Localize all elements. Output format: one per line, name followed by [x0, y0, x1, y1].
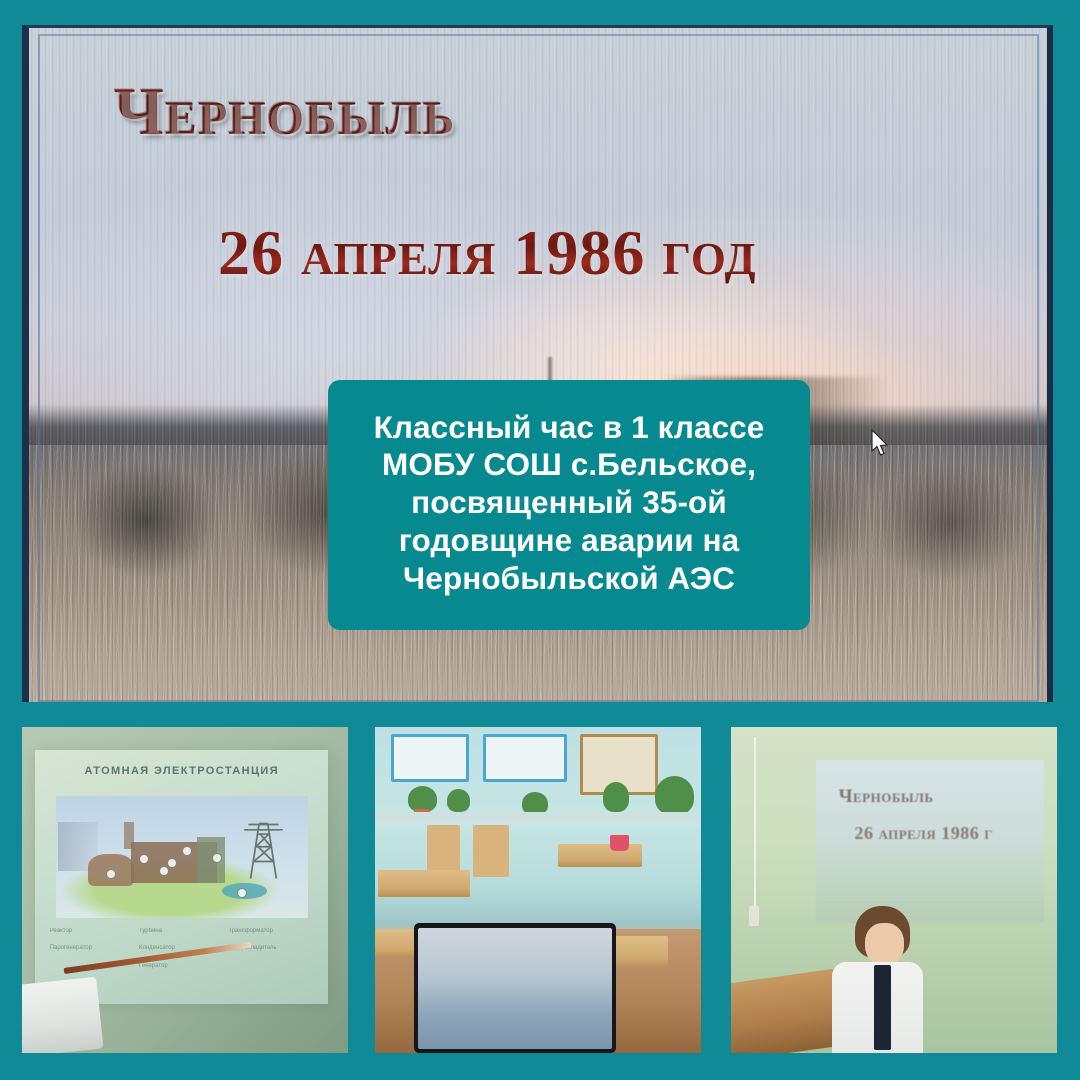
callout-marker	[139, 854, 149, 864]
monitor-display	[414, 923, 616, 1053]
chair	[427, 825, 460, 877]
slide-title: Чернобыль	[114, 77, 455, 145]
flower-pot	[610, 835, 630, 851]
desk	[378, 870, 469, 896]
potted-plant	[447, 789, 470, 812]
npp-illustration	[56, 796, 308, 918]
legend-item: Турбина	[139, 928, 224, 944]
wall-poster	[391, 734, 469, 782]
pupil-face	[865, 923, 904, 965]
callout-marker	[167, 858, 177, 868]
projected-slide-title: Чернобыль	[839, 786, 934, 808]
projected-slide-date: 26 апреля 1986 г	[855, 823, 993, 844]
hanging-cord	[754, 737, 756, 916]
caption-overlay: Классный час в 1 классе МОБУ СОШ с.Бельс…	[328, 380, 810, 630]
thumbnail-girl-presenting[interactable]: Чернобыль 26 апреля 1986 г	[731, 727, 1057, 1053]
legend-item: Реактор	[50, 928, 135, 944]
callout-marker	[212, 853, 222, 863]
legend-item: Генератор	[139, 963, 224, 979]
npp-slide-title: АТОМНАЯ ЭЛЕКТРОСТАНЦИЯ	[35, 765, 328, 777]
caption-text: Классный час в 1 классе МОБУ СОШ с.Бельс…	[374, 409, 765, 598]
legend-item	[228, 963, 313, 979]
callout-marker	[182, 846, 192, 856]
teacher-arm	[22, 977, 104, 1053]
monitor-screen-content	[418, 928, 612, 1049]
desk	[558, 844, 643, 867]
potted-plant	[655, 776, 694, 815]
slide-date: 26 апреля 1986 год	[218, 221, 757, 285]
projected-slide: Чернобыль 26 апреля 1986 г	[816, 760, 1044, 923]
potted-plant	[408, 786, 437, 812]
chair	[473, 825, 509, 877]
callout-marker	[106, 869, 116, 879]
power-pylon-icon	[242, 815, 285, 878]
blouse-placket	[874, 965, 890, 1050]
thumbnail-npp-diagram[interactable]: АТОМНАЯ ЭЛЕКТРОСТАНЦИЯ Реактор Турбин	[22, 727, 348, 1053]
thumbnail-classroom-pupils[interactable]	[375, 727, 701, 1053]
window-sill	[375, 812, 701, 822]
potted-plant	[603, 782, 629, 811]
legend-item: Трансформатор	[228, 928, 313, 944]
light-switch[interactable]	[749, 906, 759, 926]
wall-poster	[483, 734, 567, 782]
